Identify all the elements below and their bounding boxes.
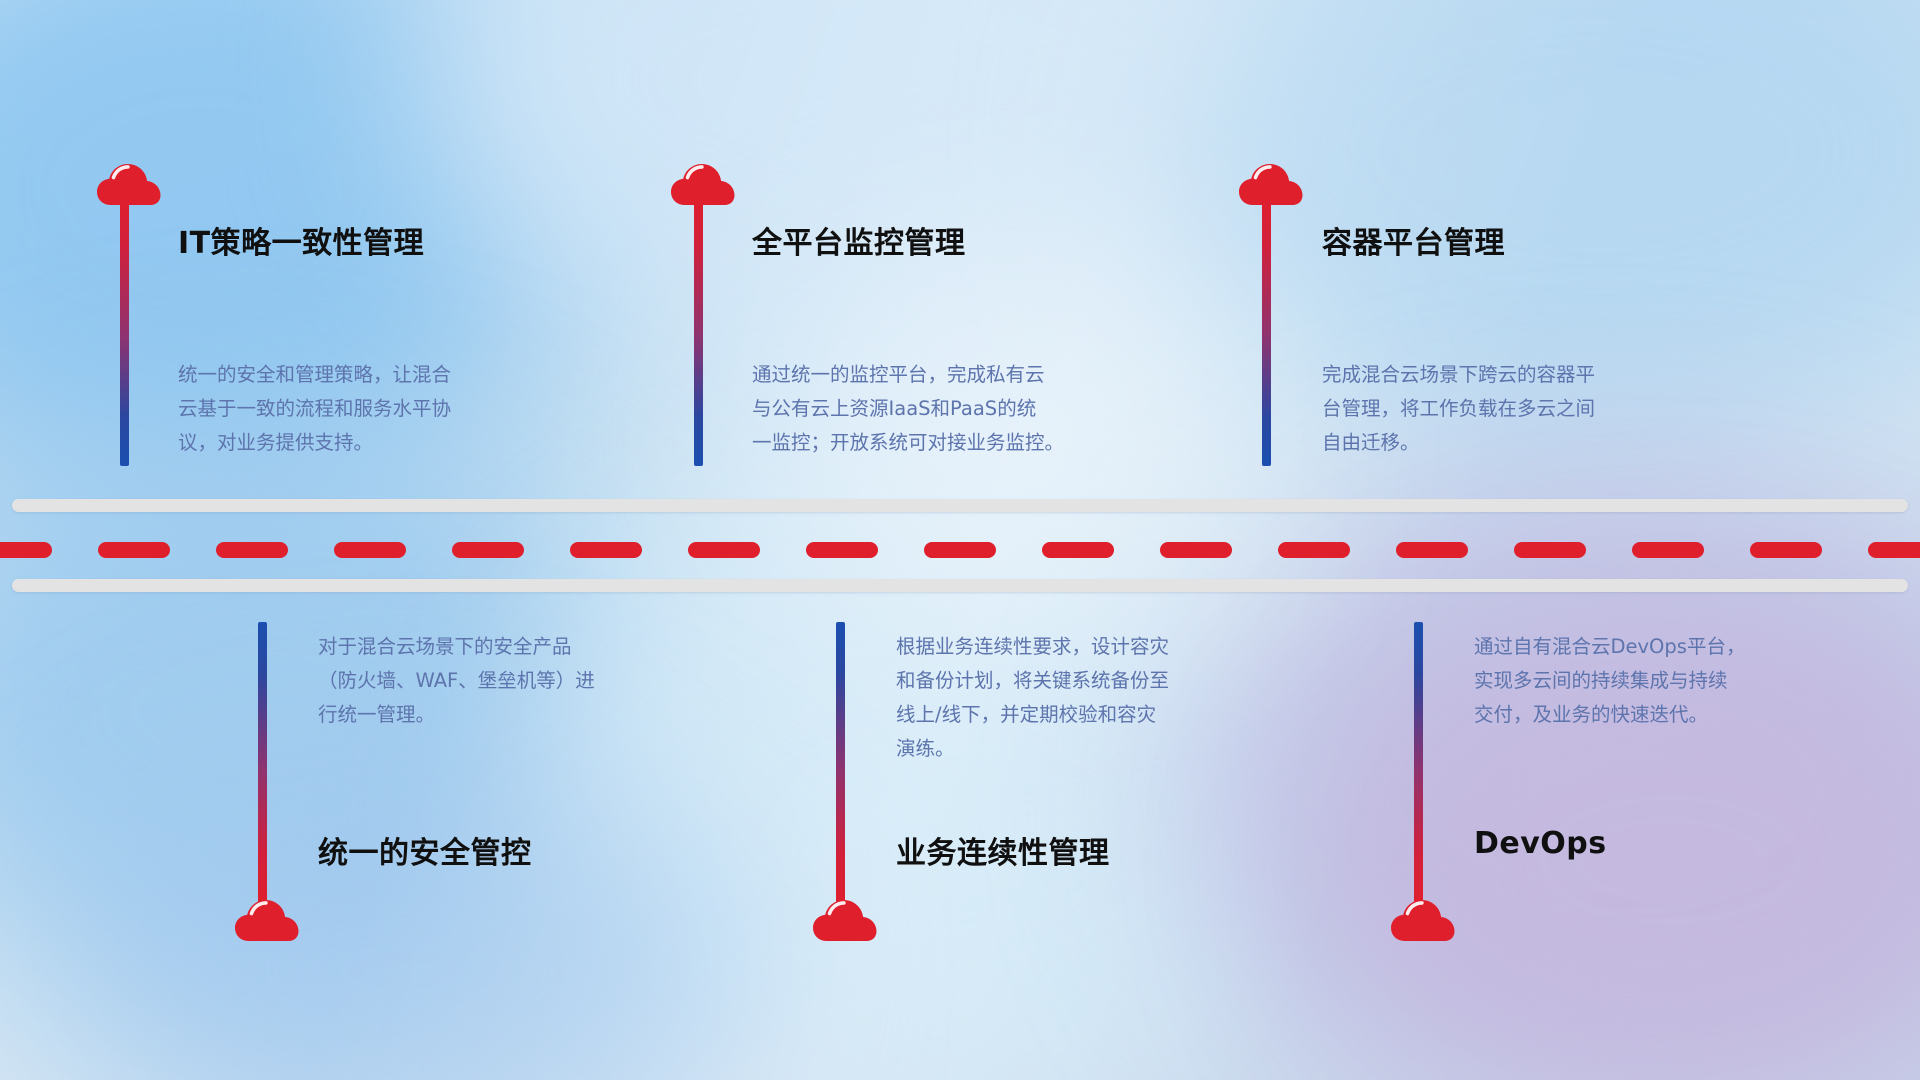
item-description: 对于混合云场景下的安全产品 （防火墙、WAF、堡垒机等）进 行统一管理。 (318, 630, 748, 732)
cloud-icon (234, 896, 300, 942)
road-dash (1632, 542, 1704, 558)
road-dash (1514, 542, 1586, 558)
item-title: 统一的安全管控 (318, 828, 532, 872)
cloud-icon (812, 896, 878, 942)
cloud-icon (1390, 896, 1456, 942)
cloud-icon (1238, 160, 1304, 206)
connector-line (120, 196, 129, 466)
road-dash (688, 542, 760, 558)
connector-line (1414, 622, 1423, 904)
road-dash (1868, 542, 1920, 558)
road-dash (452, 542, 524, 558)
road-dash (98, 542, 170, 558)
road-dash-row (0, 542, 1920, 558)
road-dash (570, 542, 642, 558)
connector-line (694, 196, 703, 466)
item-description: 完成混合云场景下跨云的容器平 台管理，将工作负载在多云之间 自由迁移。 (1322, 358, 1752, 460)
infographic-canvas: IT策略一致性管理 统一的安全和管理策略，让混合 云基于一致的流程和服务水平协 … (0, 0, 1920, 1080)
road-dash (1278, 542, 1350, 558)
item-description: 根据业务连续性要求，设计容灾 和备份计划，将关键系统备份至 线上/线下，并定期校… (896, 630, 1336, 766)
item-title: DevOps (1474, 826, 1607, 861)
item-description: 通过统一的监控平台，完成私有云 与公有云上资源IaaS和PaaS的统 一监控；开… (752, 358, 1202, 460)
connector-line (1262, 196, 1271, 466)
road-dash (924, 542, 996, 558)
road-dash (334, 542, 406, 558)
road-rail-bottom (12, 579, 1908, 592)
road-dash (0, 542, 52, 558)
cloud-icon (670, 160, 736, 206)
road-dash (1042, 542, 1114, 558)
item-description: 通过自有混合云DevOps平台， 实现多云间的持续集成与持续 交付，及业务的快速… (1474, 630, 1894, 732)
item-description: 统一的安全和管理策略，让混合 云基于一致的流程和服务水平协 议，对业务提供支持。 (178, 358, 608, 460)
connector-line (258, 622, 267, 904)
road-dash (216, 542, 288, 558)
road-dash (1750, 542, 1822, 558)
road-dash (806, 542, 878, 558)
item-title: 业务连续性管理 (896, 828, 1110, 872)
item-title: 容器平台管理 (1322, 218, 1505, 262)
item-title: IT策略一致性管理 (178, 218, 424, 262)
item-title: 全平台监控管理 (752, 218, 966, 262)
connector-line (836, 622, 845, 904)
cloud-icon (96, 160, 162, 206)
road-dash (1160, 542, 1232, 558)
road-rail-top (12, 499, 1908, 512)
road-dash (1396, 542, 1468, 558)
